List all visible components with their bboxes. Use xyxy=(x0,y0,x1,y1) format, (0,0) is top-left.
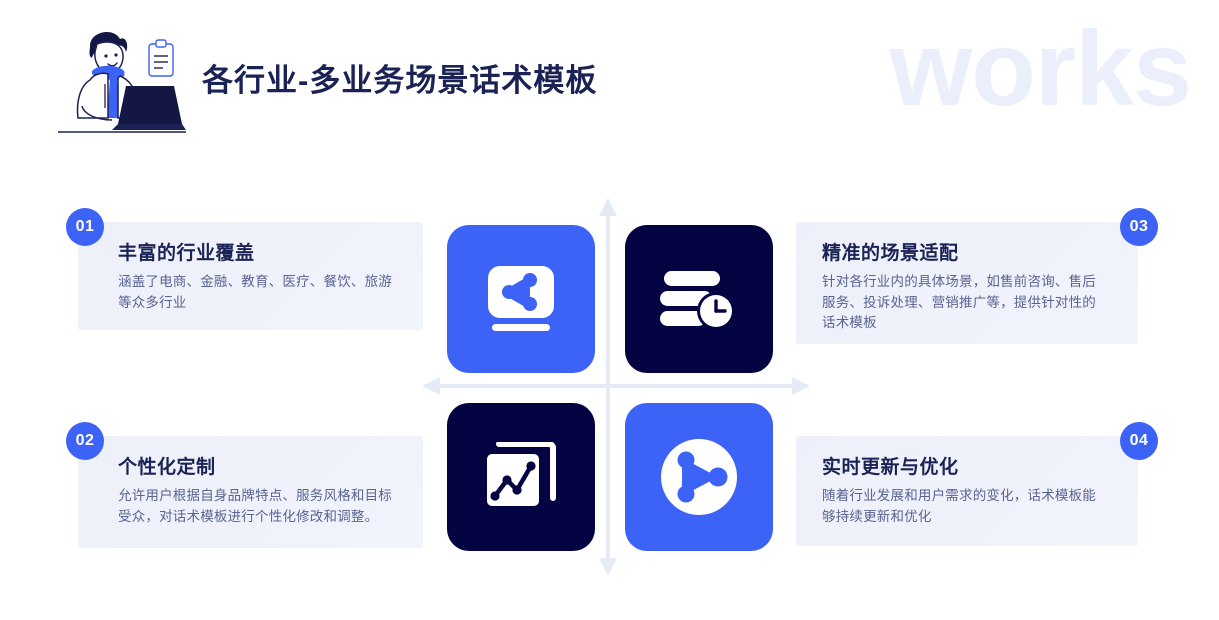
tile-screen-share[interactable] xyxy=(447,225,595,373)
card-description: 涵盖了电商、金融、教育、医疗、餐饮、旅游等众多行业 xyxy=(118,272,401,313)
card-badge-01: 01 xyxy=(66,208,104,246)
feature-card-02[interactable]: 个性化定制 允许用户根据自身品牌特点、服务风格和目标受众，对话术模板进行个性化修… xyxy=(78,436,423,548)
card-description: 随着行业发展和用户需求的变化，话术模板能够持续更新和优化 xyxy=(822,486,1108,527)
slide-header: 各行业-多业务场景话术模板 xyxy=(56,14,597,140)
card-title: 丰富的行业覆盖 xyxy=(118,238,401,265)
screen-share-icon xyxy=(484,264,558,334)
person-with-laptop-illustration xyxy=(56,14,188,140)
card-description: 允许用户根据自身品牌特点、服务风格和目标受众，对话术模板进行个性化修改和调整。 xyxy=(118,486,401,527)
icon-tile-grid xyxy=(447,225,773,551)
card-badge-04: 04 xyxy=(1120,422,1158,460)
line-chart-cards-icon xyxy=(485,442,557,512)
tile-network-nodes[interactable] xyxy=(625,403,773,551)
network-nodes-circle-icon xyxy=(660,438,738,516)
tile-line-chart-cards[interactable] xyxy=(447,403,595,551)
page-title: 各行业-多业务场景话术模板 xyxy=(202,55,597,100)
list-clock-icon xyxy=(660,269,738,329)
watermark-text: works xyxy=(890,16,1191,122)
card-title: 精准的场景适配 xyxy=(822,238,1108,265)
card-title: 实时更新与优化 xyxy=(822,452,1108,479)
card-badge-02: 02 xyxy=(66,422,104,460)
feature-card-01[interactable]: 丰富的行业覆盖 涵盖了电商、金融、教育、医疗、餐饮、旅游等众多行业 xyxy=(78,222,423,330)
card-badge-03: 03 xyxy=(1120,208,1158,246)
feature-card-03[interactable]: 精准的场景适配 针对各行业内的具体场景，如售前咨询、售后服务、投诉处理、营销推广… xyxy=(796,222,1138,344)
card-title: 个性化定制 xyxy=(118,452,401,479)
slide-canvas: works xyxy=(0,0,1219,620)
feature-card-04[interactable]: 实时更新与优化 随着行业发展和用户需求的变化，话术模板能够持续更新和优化 xyxy=(796,436,1138,546)
card-description: 针对各行业内的具体场景，如售前咨询、售后服务、投诉处理、营销推广等，提供针对性的… xyxy=(822,272,1108,334)
tile-list-clock[interactable] xyxy=(625,225,773,373)
